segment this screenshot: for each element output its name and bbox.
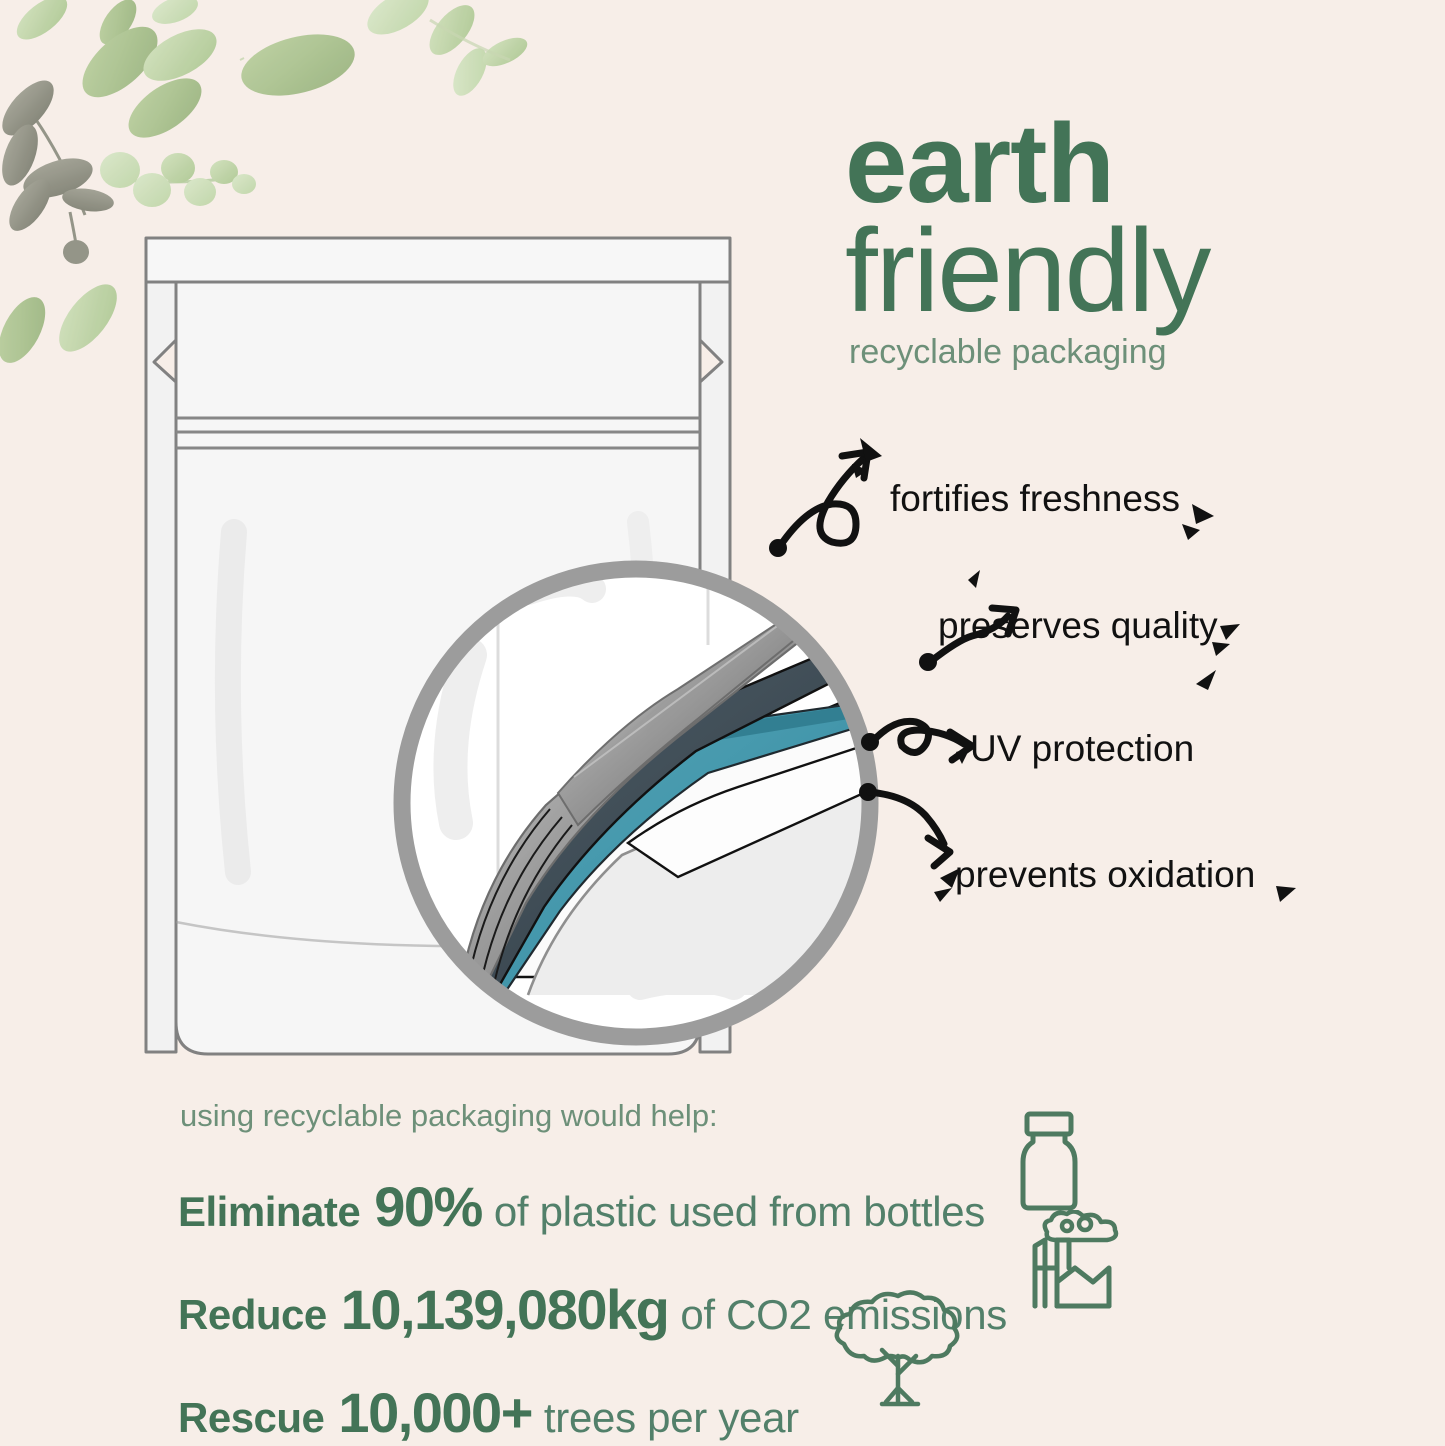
stats-intro: using recyclable packaging would help: [180,1098,1278,1134]
stat-rest: trees per year [544,1394,799,1442]
headline-subtitle: recyclable packaging [849,333,1365,372]
infographic-canvas: earth friendly recyclable packaging [0,0,1445,1446]
stat-verb: Rescue [178,1394,324,1442]
factory-icon [1023,1210,1143,1318]
headline-friendly: friendly [845,215,1365,327]
tree-icon [828,1288,968,1418]
stat-number: 10,000+ [338,1380,531,1445]
stat-rest: of plastic used from bottles [494,1188,985,1236]
stat-number: 90% [374,1174,482,1239]
feature-label-uv-protection: UV protection [970,728,1194,770]
headline-earth: earth [845,112,1365,215]
feature-label-fortifies-freshness: fortifies freshness [890,478,1180,520]
stat-verb: Eliminate [178,1188,360,1236]
stat-row-rescue: Rescue 10,000+ trees per year [178,1380,1278,1445]
feature-label-preserves-quality: preserves quality [938,605,1218,647]
feature-label-prevents-oxidation: prevents oxidation [955,854,1255,896]
stats-section: using recyclable packaging would help: E… [178,1098,1278,1446]
headline-block: earth friendly recyclable packaging [845,112,1365,372]
feature-callouts: fortifies freshness preserves quality UV… [760,430,1420,930]
stat-verb: Reduce [178,1291,327,1339]
bottle-icon [1003,1106,1113,1216]
stat-number: 10,139,080kg [341,1277,669,1342]
